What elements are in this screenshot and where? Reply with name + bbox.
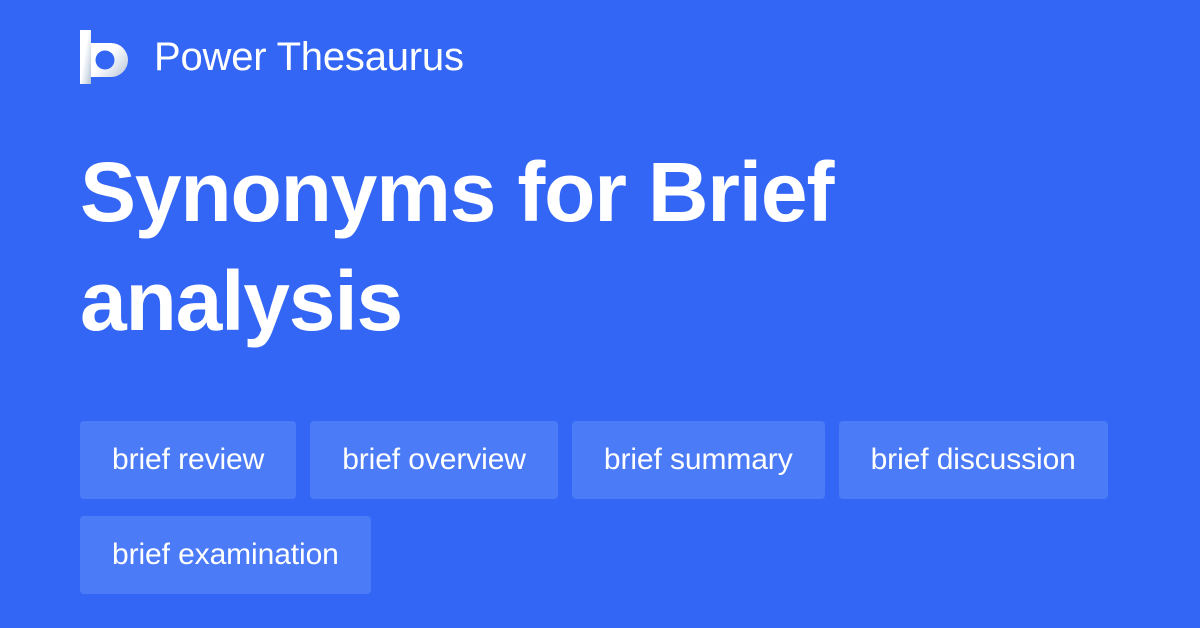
brand-name: Power Thesaurus bbox=[154, 37, 464, 77]
synonym-chip-list: brief review brief overview brief summar… bbox=[80, 421, 1120, 594]
synonym-chip[interactable]: brief review bbox=[80, 421, 296, 499]
synonym-chip[interactable]: brief examination bbox=[80, 516, 371, 594]
page-title: Synonyms for Brief analysis bbox=[80, 138, 980, 356]
synonym-chip[interactable]: brief overview bbox=[310, 421, 558, 499]
synonym-chip[interactable]: brief summary bbox=[572, 421, 825, 499]
brand-header[interactable]: Power Thesaurus bbox=[80, 26, 464, 88]
synonym-chip[interactable]: brief discussion bbox=[839, 421, 1108, 499]
powerthesaurus-b-logo-icon bbox=[80, 30, 128, 84]
